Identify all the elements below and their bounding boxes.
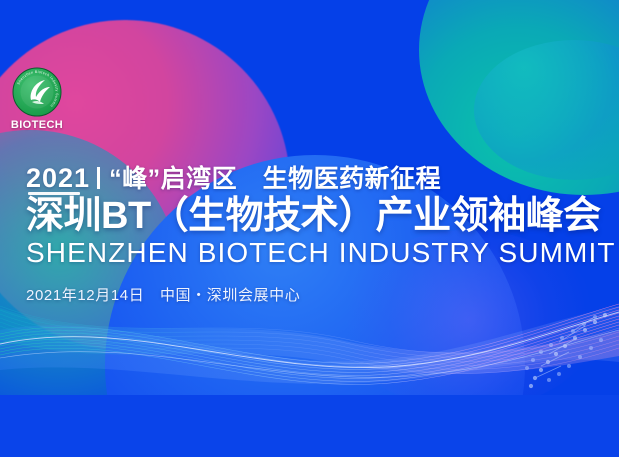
summit-logo: Shenzhen Biotech Industry Summit BIOTECH	[4, 66, 70, 131]
headline-block: 2021 “峰”启湾区 生物医药新征程 深圳BT（生物技术）产业领袖峰会 SHE…	[26, 163, 613, 305]
wave-ribbons	[0, 300, 619, 400]
dna-helix-icon	[505, 300, 615, 410]
summit-poster: Shenzhen Biotech Industry Summit BIOTECH…	[0, 0, 619, 457]
year-lockup: 2021	[26, 163, 90, 193]
date-venue-line: 2021年12月14日 中国・深圳会展中心	[26, 284, 613, 305]
tagline-line: 2021 “峰”启湾区 生物医药新征程	[26, 163, 613, 193]
logo-wordmark: BIOTECH	[4, 119, 70, 131]
title-chinese: 深圳BT（生物技术）产业领袖峰会	[26, 196, 613, 237]
teal-arc-secondary	[474, 40, 619, 180]
biotech-emblem-icon: Shenzhen Biotech Industry Summit	[11, 66, 63, 118]
bottom-solid-band	[0, 395, 619, 457]
title-english: SHENZHEN BIOTECH INDUSTRY SUMMIT	[26, 238, 613, 269]
year-divider-bar	[97, 167, 100, 189]
tagline-text: “峰”启湾区 生物医药新征程	[109, 165, 441, 193]
